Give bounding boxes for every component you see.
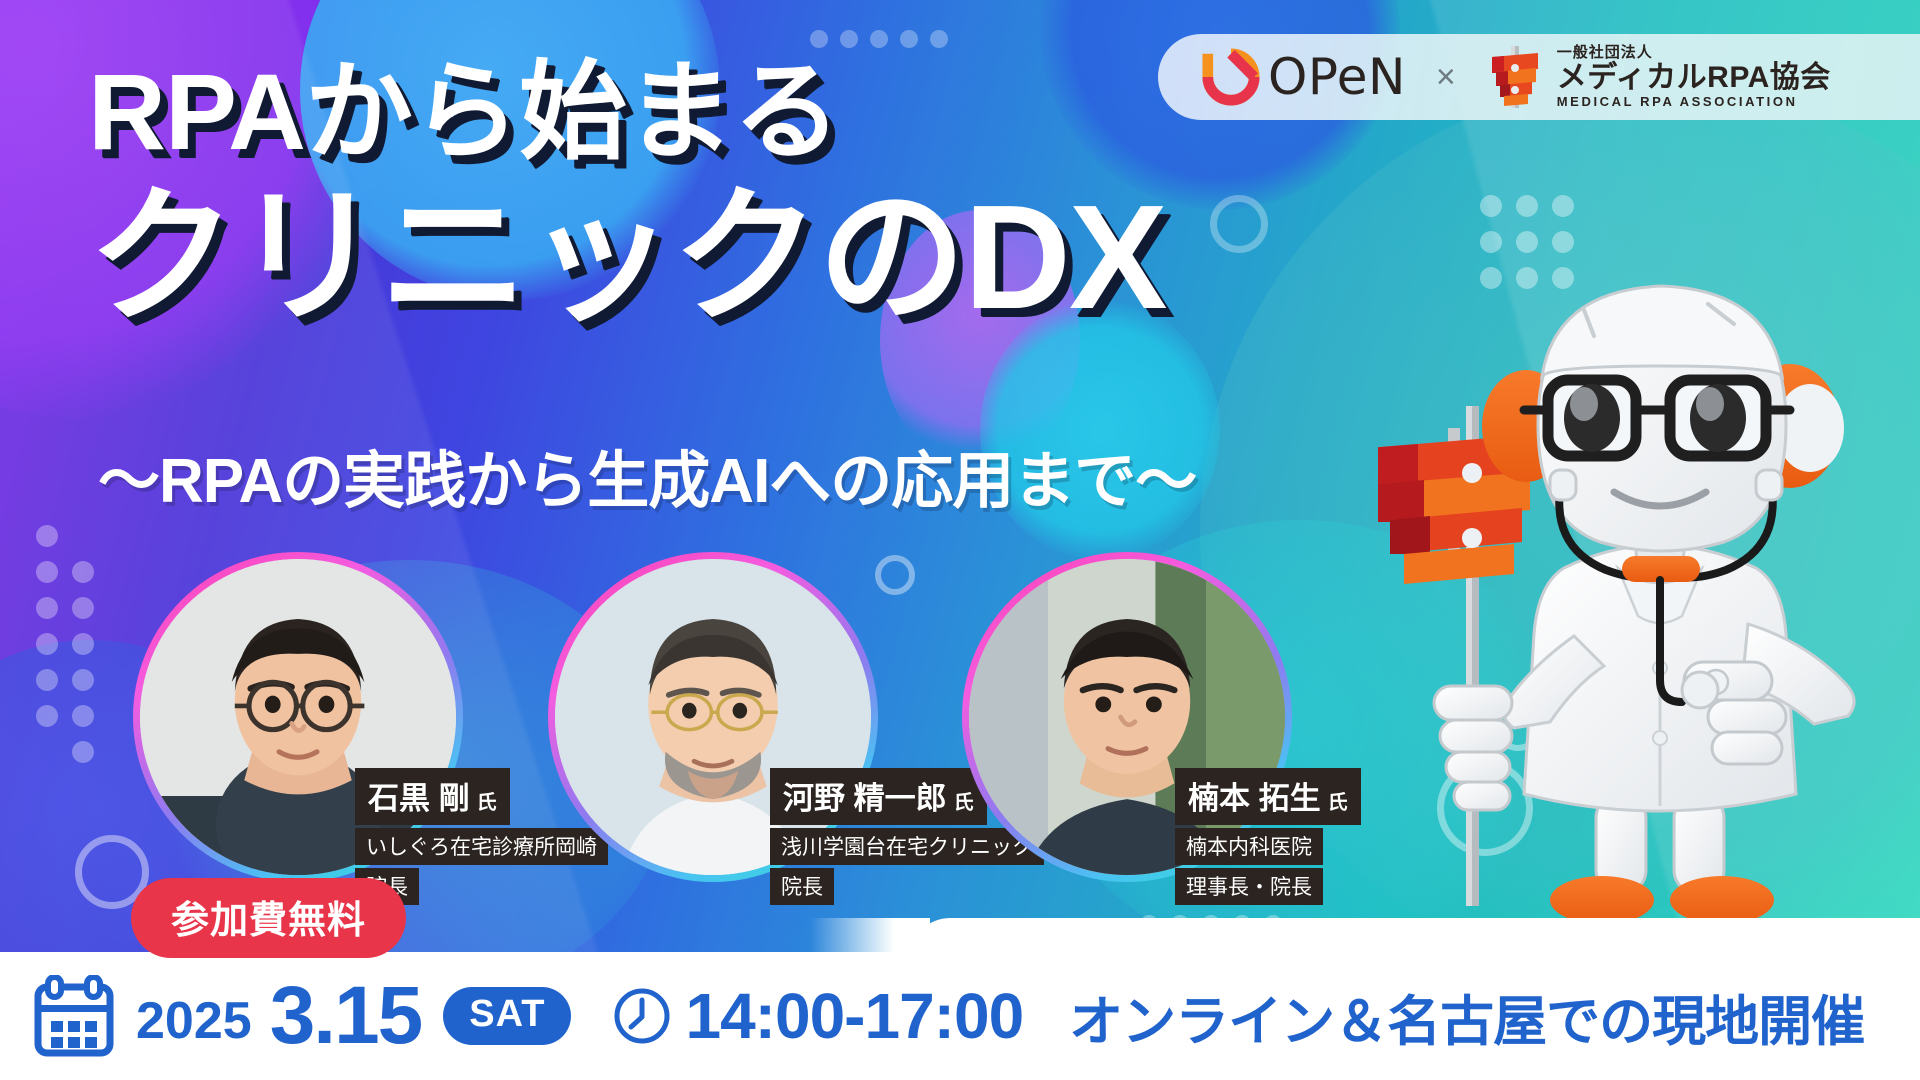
free-admission-badge: 参加費無料 <box>131 878 406 958</box>
association-prefix: 一般社団法人 <box>1557 45 1831 61</box>
event-date: 3.15 <box>270 969 422 1063</box>
event-year: 2025 <box>136 991 252 1051</box>
open-wordmark: OPeN <box>1268 52 1406 102</box>
speaker-honorific: 氏 <box>954 792 974 814</box>
event-weekday-badge: SAT <box>443 987 571 1045</box>
speaker-labels: 楠本 拓生氏 楠本内科医院 理事長・院長 <box>1175 768 1361 905</box>
speaker-organization: 浅川学園台在宅クリニック <box>770 828 1044 865</box>
decorative-ring <box>875 555 915 595</box>
speaker-honorific: 氏 <box>1328 792 1348 814</box>
speaker-honorific: 氏 <box>477 792 497 814</box>
speaker-name: 石黒 剛氏 <box>355 768 510 825</box>
headline-line-1: RPAから始まる <box>88 58 1166 166</box>
clock-icon <box>613 987 671 1045</box>
event-venue: オンライン＆名古屋での現地開催 <box>1069 977 1864 1056</box>
medical-rpa-association-logo: 一般社団法人 メディカルRPA協会 MEDICAL RPA ASSOCIATIO… <box>1486 44 1831 110</box>
speaker-organization: 楠本内科医院 <box>1175 828 1323 865</box>
calendar-icon <box>34 975 114 1057</box>
partner-logo-bar: OPeN × 一般社団法人 メディカルRPA協会 MEDICAL RPA ASS… <box>1158 34 1920 120</box>
decorative-dot-grid-top <box>810 30 948 48</box>
caduceus-icon <box>1486 44 1544 110</box>
speaker-name: 河野 精一郎氏 <box>770 768 987 825</box>
open-logo: OPeN <box>1200 48 1406 106</box>
headline-subtitle: 〜RPAの実践から生成AIへの応用まで〜 <box>98 430 1196 520</box>
speaker-title: 理事長・院長 <box>1175 868 1323 905</box>
open-swoosh-icon <box>1200 48 1262 106</box>
association-name: メディカルRPA協会 <box>1557 62 1831 94</box>
decorative-dot-grid-left <box>36 525 94 763</box>
partner-separator-icon: × <box>1436 58 1456 97</box>
headline-block: RPAから始まる クリニックのDX <box>88 58 1166 332</box>
robot-doctor-mascot <box>1378 238 1920 938</box>
webinar-poster: OPeN × 一般社団法人 メディカルRPA協会 MEDICAL RPA ASS… <box>0 0 1920 1080</box>
event-time: 14:00-17:00 <box>685 979 1023 1053</box>
speaker-title: 院長 <box>770 868 834 905</box>
footer-details: 2025 3.15 SAT 14:00-17:00 オンライン＆名古屋での現地開… <box>0 952 1920 1080</box>
decorative-ring <box>1210 195 1268 253</box>
speaker-name: 楠本 拓生氏 <box>1175 768 1361 825</box>
headline-line-2: クリニックのDX <box>88 184 1166 332</box>
association-english-name: MEDICAL RPA ASSOCIATION <box>1557 95 1831 109</box>
speaker-organization: いしぐろ在宅診療所岡崎 <box>355 828 608 865</box>
